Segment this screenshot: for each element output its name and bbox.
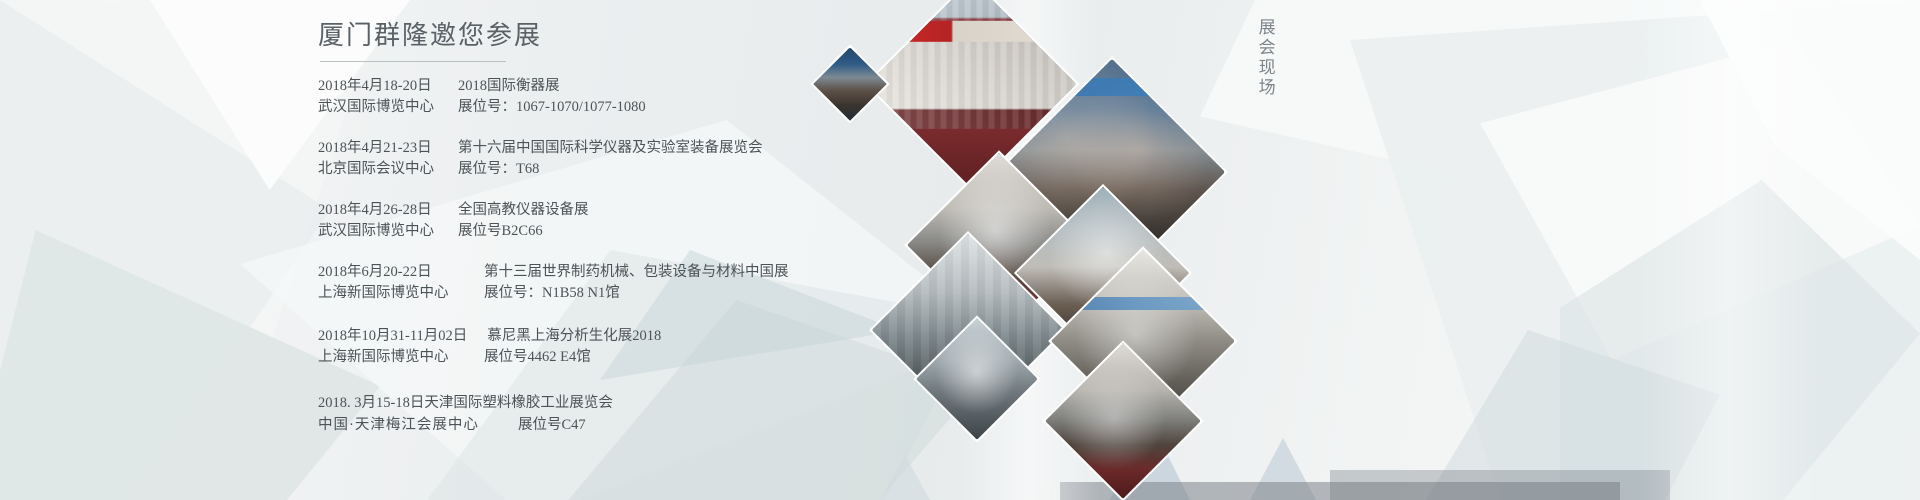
event-line-secondary: 北京国际会议中心 展位号：T68: [318, 159, 958, 180]
event-date: 2018年6月20-22日: [318, 262, 464, 283]
event-line-secondary: 中国·天津梅江会展中心 展位号C47: [318, 414, 958, 436]
event-line-secondary: 上海新国际博览中心 展位号4462 E4馆: [318, 347, 958, 368]
banner-root: 厦门群隆邀您参展 2018年4月18-20日 2018国际衡器展 武汉国际博览中…: [0, 0, 1920, 500]
event-item: 2018年4月26-28日 全国高教仪器设备展 武汉国际博览中心 展位号B2C6…: [318, 200, 958, 242]
event-booth: 展位号B2C66: [438, 221, 543, 242]
event-booth: 展位号：N1B58 N1馆: [464, 283, 620, 304]
event-line-secondary: 上海新国际博览中心 展位号：N1B58 N1馆: [318, 283, 958, 304]
event-name: 全国高教仪器设备展: [438, 200, 589, 221]
event-name: 2018国际衡器展: [438, 76, 560, 97]
event-venue: 中国·天津梅江会展中心: [318, 415, 514, 436]
facet-streak-2: [1640, 0, 1820, 500]
photo-collage: [1020, 0, 1420, 500]
event-item: 2018年4月21-23日 第十六届中国国际科学仪器及实验室装备展览会 北京国际…: [318, 138, 958, 180]
event-name: 慕尼黑上海分析生化展2018: [467, 326, 661, 347]
event-line-primary: 2018. 3月15-18日天津国际塑料橡胶工业展览会: [318, 392, 958, 414]
event-booth: 展位号4462 E4馆: [464, 347, 591, 368]
event-booth: 展位号C47: [518, 415, 586, 436]
event-venue: 上海新国际博览中心: [318, 283, 464, 304]
event-date: 2018年4月21-23日: [318, 138, 438, 159]
event-venue: 北京国际会议中心: [318, 159, 438, 180]
event-name: 第十三届世界制药机械、包装设备与材料中国展: [464, 262, 789, 283]
event-line-primary: 2018年4月21-23日 第十六届中国国际科学仪器及实验室装备展览会: [318, 138, 958, 159]
event-venue: 武汉国际博览中心: [318, 221, 438, 242]
event-date: 2018. 3月15-18日天津国际塑料橡胶工业展览会: [318, 395, 613, 411]
event-date: 2018年10月31-11月02日: [318, 326, 467, 347]
event-name: 第十六届中国国际科学仪器及实验室装备展览会: [438, 138, 763, 159]
event-booth: 展位号：1067-1070/1077-1080: [438, 97, 646, 118]
event-date: 2018年4月18-20日: [318, 76, 438, 97]
page-title: 厦门群隆邀您参展: [318, 20, 958, 61]
event-venue: 上海新国际博览中心: [318, 347, 464, 368]
event-venue: 武汉国际博览中心: [318, 97, 438, 118]
event-date: 2018年4月26-28日: [318, 200, 438, 221]
event-item: 2018. 3月15-18日天津国际塑料橡胶工业展览会 中国·天津梅江会展中心 …: [318, 392, 958, 436]
event-line-primary: 2018年6月20-22日 第十三届世界制药机械、包装设备与材料中国展: [318, 262, 958, 283]
event-booth: 展位号：T68: [438, 159, 539, 180]
event-line-secondary: 武汉国际博览中心 展位号B2C66: [318, 221, 958, 242]
event-item: 2018年6月20-22日 第十三届世界制药机械、包装设备与材料中国展 上海新国…: [318, 262, 958, 304]
event-item: 2018年10月31-11月02日 慕尼黑上海分析生化展2018 上海新国际博览…: [318, 326, 958, 368]
event-line-primary: 2018年10月31-11月02日 慕尼黑上海分析生化展2018: [318, 326, 958, 347]
event-line-primary: 2018年4月26-28日 全国高教仪器设备展: [318, 200, 958, 221]
title-divider: [320, 61, 506, 62]
